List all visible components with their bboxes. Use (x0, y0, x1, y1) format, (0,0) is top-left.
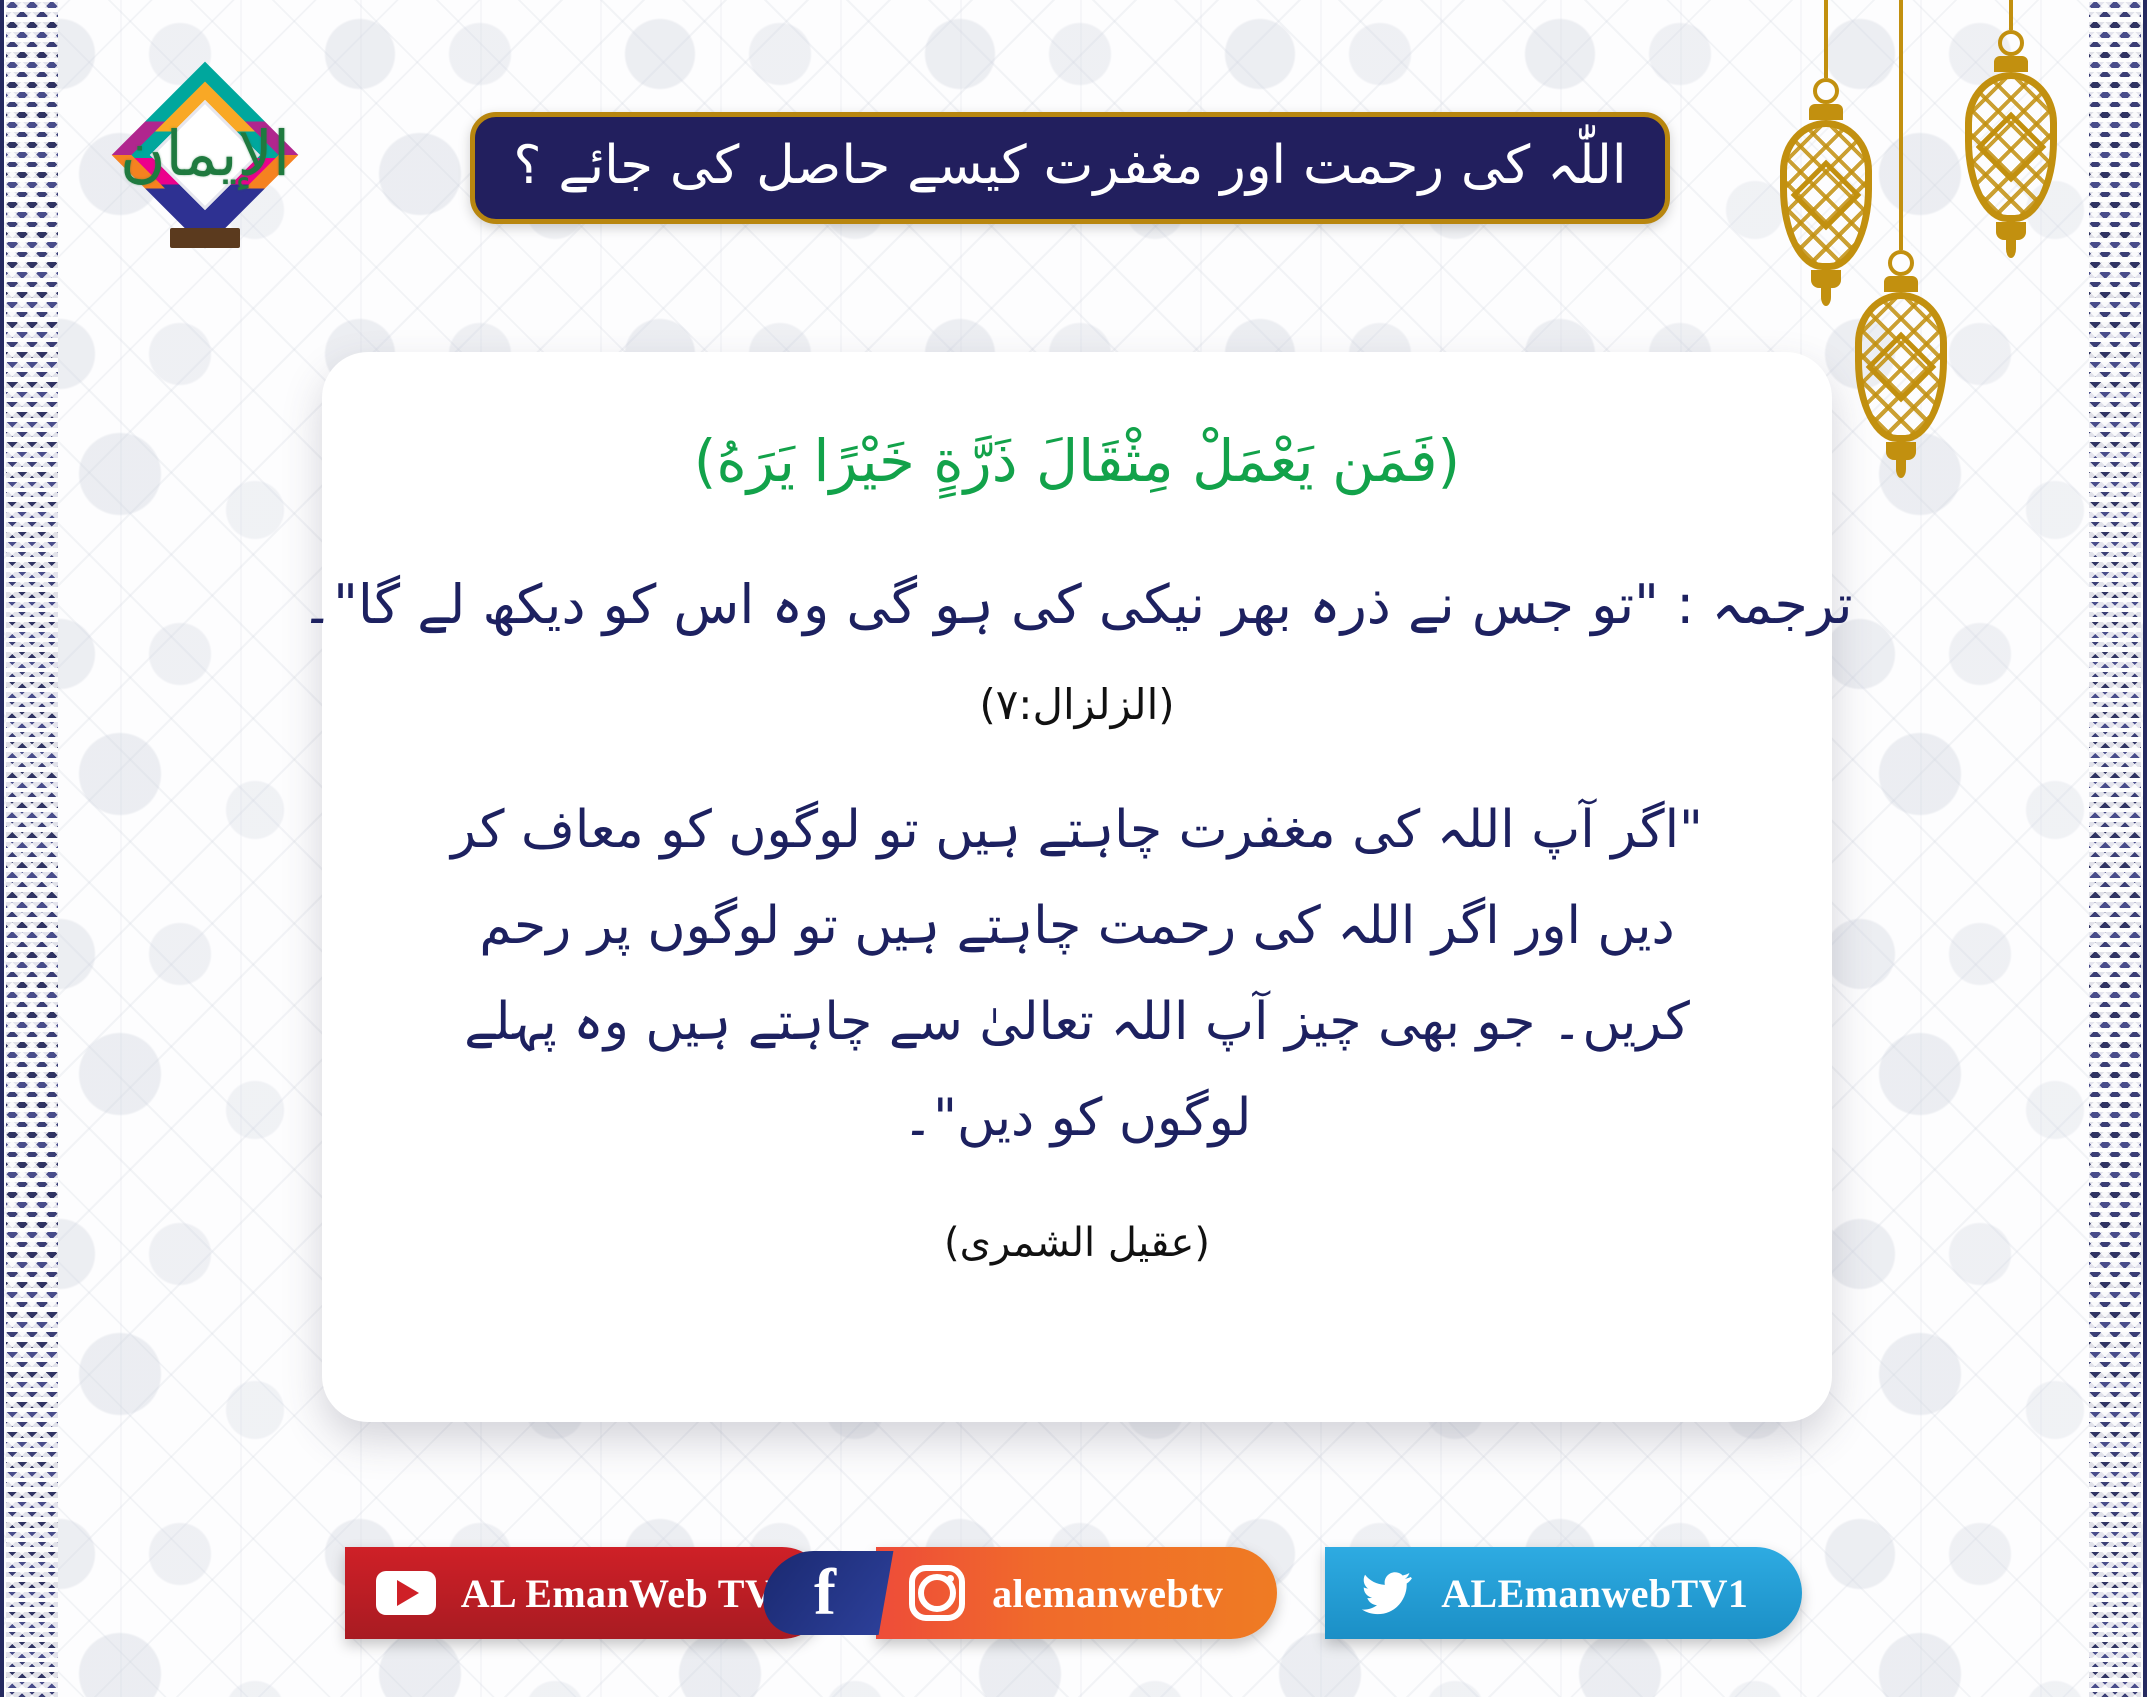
hanging-lantern-icon (1855, 0, 1947, 478)
youtube-badge[interactable]: AL EmanWeb TV (345, 1547, 828, 1639)
quran-ayah-arabic: (فَمَن يَعْمَلْ مِثْقَالَ ذَرَّةٍ خَيْرً… (694, 418, 1460, 505)
lantern-ring (1998, 30, 2024, 56)
lantern-cord (1824, 0, 1828, 78)
scholar-quote: "اگر آپ اللہ کی مغفرت چاہتے ہیں تو لوگوں… (407, 782, 1747, 1167)
quote-attribution: (عقیل الشمری) (944, 1220, 1210, 1266)
twitter-badge[interactable]: ALEmanwebTV1 (1325, 1547, 1802, 1639)
logo-calligraphy-icon: الإيمان (120, 123, 290, 185)
social-footer: AL EmanWeb TV f alemanwebtv ALEmanwebTV1 (0, 1547, 2147, 1639)
lantern-tip (1896, 460, 1906, 478)
youtube-handle: AL EmanWeb TV (461, 1570, 774, 1617)
left-ornamental-border (6, 0, 58, 1697)
lantern-cap (1994, 56, 2028, 72)
logo-base-bar (170, 228, 240, 248)
lantern-ring (1813, 78, 1839, 104)
twitter-icon (1353, 1560, 1419, 1626)
instagram-handle: alemanwebtv (992, 1570, 1223, 1617)
lantern-tip (2006, 240, 2016, 258)
instagram-facebook-badge[interactable]: f alemanwebtv (876, 1547, 1277, 1639)
hanging-lantern-icon (1965, 0, 2057, 258)
right-edge-line (2143, 0, 2147, 1697)
quran-reference: (الزلزال:۷) (979, 673, 1174, 736)
ayah-urdu-translation: ترجمہ : "تو جس نے ذرہ بھر نیکی کی ہو گی … (301, 563, 1852, 647)
content-card: (فَمَن يَعْمَلْ مِثْقَالَ ذَرَّةٍ خَيْرً… (322, 352, 1832, 1422)
instagram-icon (904, 1560, 970, 1626)
lantern-cord (1899, 0, 1903, 250)
left-edge-line (0, 0, 4, 1697)
lantern-foot (1811, 270, 1841, 288)
page-title: اللّٰہ کی رحمت اور مغفرت کیسے حاصل کی جا… (485, 136, 1654, 197)
youtube-icon (373, 1560, 439, 1626)
lantern-body (1855, 292, 1947, 442)
lantern-cap (1884, 276, 1918, 292)
lantern-cord (2009, 0, 2013, 30)
title-banner: اللّٰہ کی رحمت اور مغفرت کیسے حاصل کی جا… (470, 112, 1670, 224)
lantern-foot (1886, 442, 1916, 460)
brand-logo[interactable]: الإيمان (110, 60, 300, 250)
lantern-cap (1809, 104, 1843, 120)
lantern-body (1965, 72, 2057, 222)
lantern-ring (1888, 250, 1914, 276)
poster-canvas: الإيمان اللّٰہ کی رحمت اور مغفرت کیسے حا… (0, 0, 2147, 1697)
twitter-handle: ALEmanwebTV1 (1441, 1570, 1748, 1617)
lantern-tip (1821, 288, 1831, 306)
lantern-foot (1996, 222, 2026, 240)
right-ornamental-border (2089, 0, 2141, 1697)
